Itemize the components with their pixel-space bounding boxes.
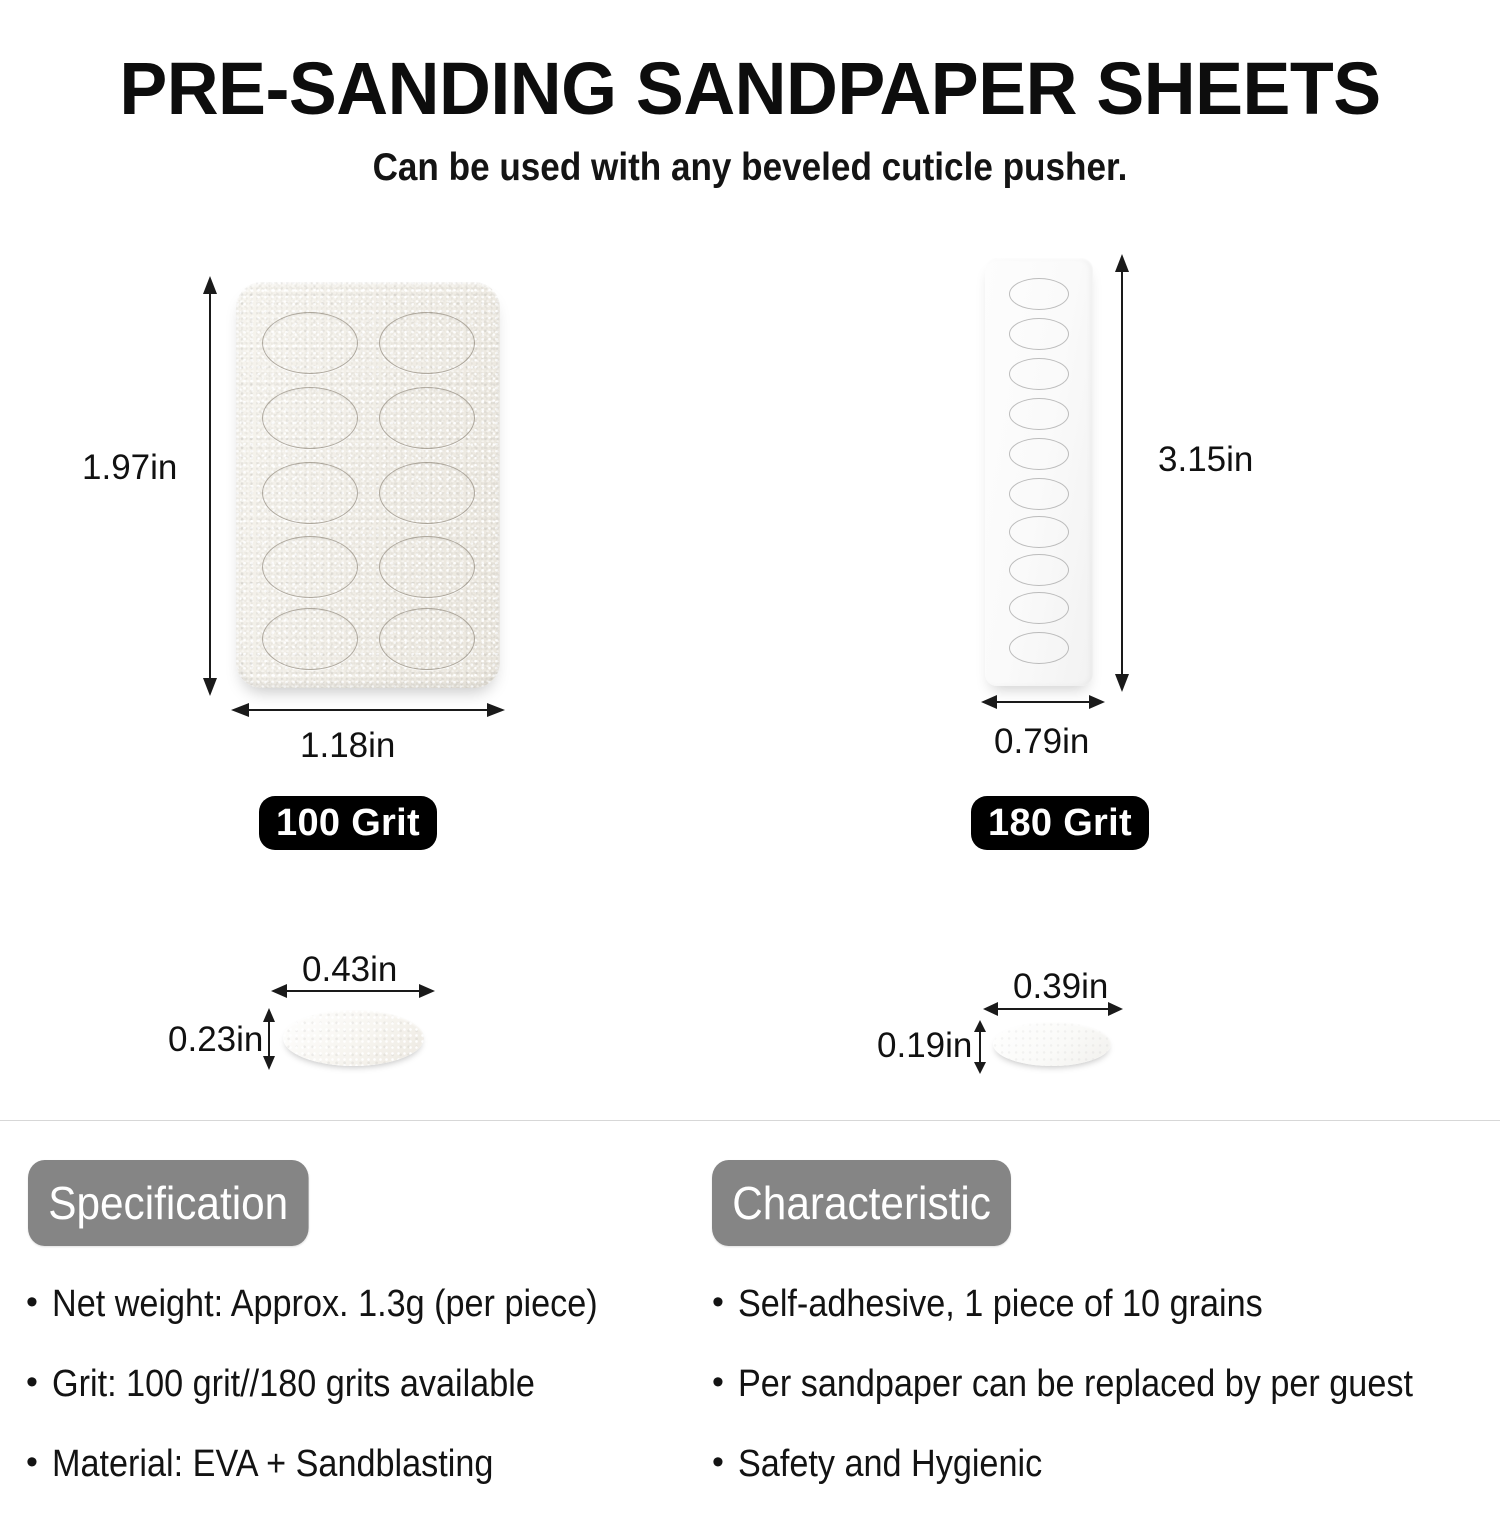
characteristic-list: • Self-adhesive, 1 piece of 10 grains • …: [712, 1285, 1488, 1525]
product-sheet-100-grit: [236, 282, 500, 688]
oval-cutout: [1009, 358, 1069, 390]
bullet-icon: •: [26, 1285, 38, 1321]
dimension-label-strip-width: 0.79in: [994, 722, 1089, 762]
section-heading-characteristic: Characteristic: [712, 1160, 1011, 1246]
oval-cutout: [379, 608, 475, 670]
specification-list: • Net weight: Approx. 1.3g (per piece) •…: [26, 1285, 658, 1525]
oval-cutout: [262, 608, 358, 670]
oval-cutout: [379, 312, 475, 374]
list-item-text: Grit: 100 grit//180 grits available: [52, 1365, 535, 1403]
section-heading-specification: Specification: [28, 1160, 308, 1246]
page-subtitle: Can be used with any beveled cuticle pus…: [75, 148, 1425, 187]
oval-cutout: [1009, 554, 1069, 586]
list-item: • Grit: 100 grit//180 grits available: [26, 1365, 658, 1403]
oval-cutout: [379, 462, 475, 524]
dimension-label-detail-right-width: 0.39in: [1013, 967, 1108, 1007]
product-strip-180-grit: [985, 258, 1093, 686]
oval-cutout: [379, 387, 475, 449]
section-divider: [0, 1120, 1500, 1121]
bullet-icon: •: [26, 1365, 38, 1401]
dimension-label-sheet-height: 1.97in: [82, 448, 177, 488]
list-item-text: Net weight: Approx. 1.3g (per piece): [52, 1285, 598, 1323]
list-item-text: Self-adhesive, 1 piece of 10 grains: [738, 1285, 1263, 1323]
list-item-text: Material: EVA + Sandblasting: [52, 1445, 493, 1483]
oval-cutout: [1009, 438, 1069, 470]
bullet-icon: •: [712, 1285, 724, 1321]
dimension-arrow-vertical-left: [190, 270, 230, 702]
dimension-label-detail-left-width: 0.43in: [302, 950, 397, 990]
dimension-label-detail-right-height: 0.19in: [877, 1026, 972, 1066]
oval-cutout: [1009, 318, 1069, 350]
dimension-label-sheet-width: 1.18in: [300, 726, 395, 766]
grit-badge-100: 100 Grit: [259, 796, 437, 850]
dimension-label-strip-height: 3.15in: [1158, 440, 1253, 480]
infographic-canvas: PRE-SANDING SANDPAPER SHEETS Can be used…: [0, 0, 1500, 1500]
bullet-icon: •: [712, 1445, 724, 1481]
dimension-arrow-horizontal-left: [225, 696, 515, 724]
list-item-text: Per sandpaper can be replaced by per gue…: [738, 1365, 1413, 1403]
list-item: • Net weight: Approx. 1.3g (per piece): [26, 1285, 658, 1323]
dimension-label-detail-left-height: 0.23in: [168, 1020, 263, 1060]
oval-cutout: [1009, 278, 1069, 310]
detail-oval-100-grit: [283, 1010, 424, 1066]
list-item: • Self-adhesive, 1 piece of 10 grains: [712, 1285, 1488, 1323]
oval-cutout: [262, 462, 358, 524]
list-item: • Per sandpaper can be replaced by per g…: [712, 1365, 1488, 1403]
oval-cutout: [1009, 516, 1069, 548]
oval-cutout: [262, 387, 358, 449]
list-item: • Material: EVA + Sandblasting: [26, 1445, 658, 1483]
oval-cutout: [1009, 398, 1069, 430]
oval-cutout: [1009, 632, 1069, 664]
bullet-icon: •: [26, 1445, 38, 1481]
list-item-text: Safety and Hygienic: [738, 1445, 1042, 1483]
oval-cutout: [262, 536, 358, 598]
oval-cutout: [379, 536, 475, 598]
oval-cutout: [1009, 478, 1069, 510]
list-item: • Safety and Hygienic: [712, 1445, 1488, 1483]
oval-cutout: [1009, 592, 1069, 624]
grit-badge-180: 180 Grit: [971, 796, 1149, 850]
bullet-icon: •: [712, 1365, 724, 1401]
oval-cutout: [262, 312, 358, 374]
dimension-arrow-horizontal-right: [975, 688, 1115, 716]
dimension-arrow-vertical-right: [1102, 248, 1142, 698]
detail-oval-180-grit: [993, 1022, 1111, 1066]
page-title: PRE-SANDING SANDPAPER SHEETS: [23, 52, 1478, 126]
